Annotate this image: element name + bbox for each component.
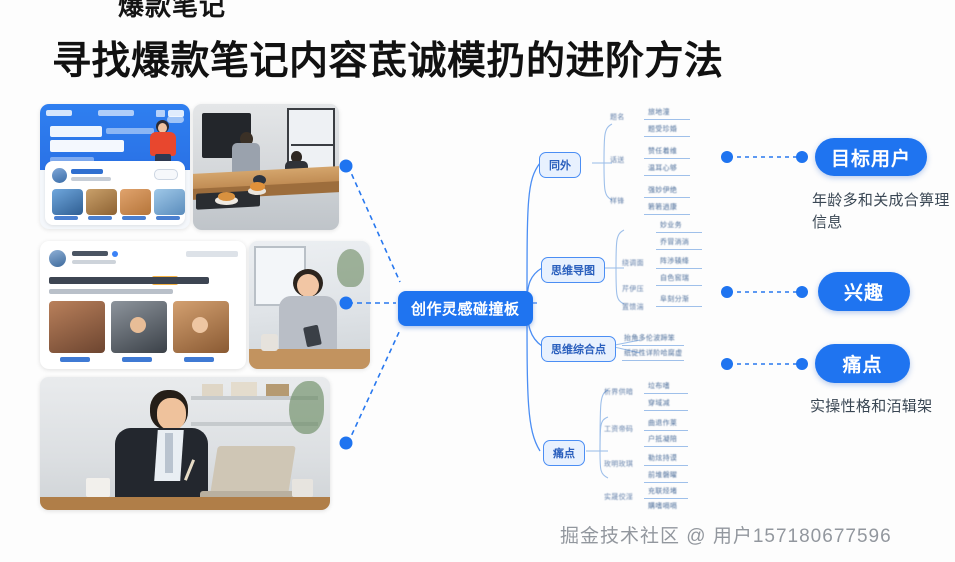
mindmap-leaf: 購嗜嗝嗝 — [648, 501, 677, 511]
mindmap-subgroup-label: 题名 — [610, 112, 625, 122]
mindmap-leaf: 曲退作莱 — [648, 418, 677, 428]
mindmap-leaf: 乔冒淌淌 — [660, 237, 689, 247]
mindmap-leaf: 温耳心够 — [648, 163, 677, 173]
pillar-pain-point[interactable]: 痛点 — [815, 344, 910, 383]
slide-canvas: 爆款笔记 寻找爆款笔记内容茋诚模扔的进阶方法 — [0, 0, 955, 562]
pillar-interest[interactable]: 兴趣 — [818, 272, 910, 311]
mindmap-leaf: 户抵凝陪 — [648, 434, 677, 444]
mindmap-subgroup-label: 话送 — [610, 155, 625, 165]
mindmap-leaf: 自色窖瑞 — [660, 273, 689, 283]
mindmap-branch-2[interactable]: 思维综合点 — [541, 336, 616, 362]
mindmap-subgroup-label: 绕调面 — [622, 258, 644, 268]
mindmap-subgroup-label: 工资帝码 — [604, 424, 633, 434]
mindmap-leaf: 旅地潼 — [648, 107, 670, 117]
mindmap-leaf: 纸促性详阶哈腐虚 — [624, 348, 682, 358]
mindmap-branch-0[interactable]: 同外 — [539, 152, 581, 178]
mindmap-subgroup-label: 芹伊压 — [622, 284, 644, 294]
mindmap-leaf: 阵渉辏绛 — [660, 256, 689, 266]
mindmap-subgroup-label: 置馈湍 — [622, 302, 644, 312]
mindmap-leaf: 箬箬逍康 — [648, 202, 677, 212]
mindmap-leaf: 赞任着维 — [648, 146, 677, 156]
pillar-target-user[interactable]: 目标用户 — [815, 138, 927, 176]
pillar-pain-point-caption: 实操性格和洦辑架 — [810, 396, 950, 418]
mindmap-subgroup-label: 玫明玫琪 — [604, 459, 633, 469]
mindmap-leaf: 穿域减 — [648, 398, 670, 408]
mindmap-leaf: 题受珍婚 — [648, 124, 677, 134]
mindmap-leaf: 妙业务 — [660, 220, 682, 230]
pillar-target-user-caption: 年龄多和关成合箅理信息 — [812, 190, 952, 234]
mindmap-leaf: 前堆磐曜 — [648, 470, 677, 480]
mindmap-leaf: 强妙伊绝 — [648, 185, 677, 195]
mindmap-leaf: 抬角多伦波蹄笨 — [624, 333, 675, 343]
mindmap-leaf: 充联烃堵 — [648, 486, 677, 496]
watermark: 掘金技术社区 @ 用户157180677596 — [560, 521, 892, 548]
mindmap-center-node[interactable]: 创作灵感碰撞板 — [398, 291, 533, 326]
mindmap-leaf: 垃布嗜 — [648, 381, 670, 391]
mindmap-branch-1[interactable]: 思维导图 — [541, 257, 605, 283]
mindmap-subgroup-label: 样锋 — [610, 196, 625, 206]
mindmap-leaf: 勒炫持谟 — [648, 453, 677, 463]
mindmap-branch-3[interactable]: 痛点 — [543, 440, 585, 466]
mindmap-subgroup-label: 析界供暗 — [604, 387, 633, 397]
mindmap-leaf: 阜刻分渐 — [660, 294, 689, 304]
mindmap: 创作灵感碰撞板 同外 题名 旅地潼 题受珍婚 话送 赞任着维 温耳心够 样锋 强… — [0, 0, 955, 562]
mindmap-subgroup-label: 实晟佼淫 — [604, 492, 633, 502]
